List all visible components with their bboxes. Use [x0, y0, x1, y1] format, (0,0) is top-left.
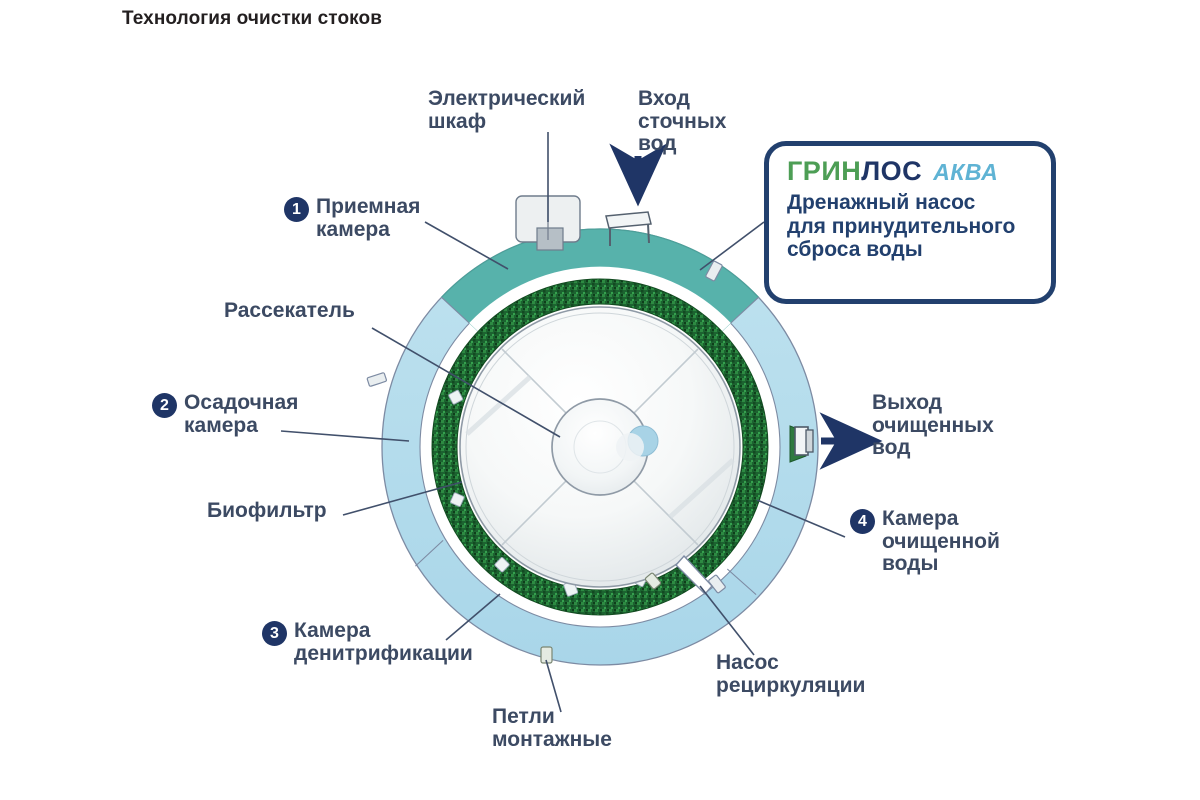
logo-brand-name: ГРИНЛОС: [787, 156, 922, 187]
numbered-label-1-text: Приемная камера: [316, 196, 420, 241]
label-recirculation-pump: Насос рециркуляции: [716, 652, 865, 697]
logo-brand-part3: АКВА: [933, 159, 998, 186]
numbered-label-2-text: Осадочная камера: [184, 392, 298, 437]
label-mounting-loops: Петли монтажные: [492, 706, 612, 751]
numbered-label-3-text: Камера денитрификации: [294, 620, 473, 665]
badge-number-3: 3: [262, 621, 287, 646]
numbered-label-4-text: Камера очищенной воды: [882, 508, 1000, 576]
product-logo-box: ГРИНЛОС АКВА Дренажный насос для принуди…: [764, 141, 1056, 304]
logo-brand-part2: ЛОС: [861, 156, 922, 186]
label-waste-inlet: Вход сточных вод: [638, 88, 726, 156]
label-biofilter: Биофильтр: [207, 500, 327, 523]
label-clean-outlet: Выход очищенных вод: [872, 392, 994, 460]
numbered-label-3: 3 Камера денитрификации: [262, 620, 473, 665]
label-distributor: Рассекатель: [224, 300, 355, 323]
logo-description: Дренажный насос для принудительного сбро…: [787, 191, 1037, 262]
numbered-label-4: 4 Камера очищенной воды: [850, 508, 1000, 576]
badge-number-1: 1: [284, 197, 309, 222]
badge-number-4: 4: [850, 509, 875, 534]
badge-number-2: 2: [152, 393, 177, 418]
numbered-label-1: 1 Приемная камера: [284, 196, 420, 241]
diagram-page: Технология очистки стоков: [0, 0, 1200, 800]
logo-brand-part1: ГРИН: [787, 156, 861, 186]
logo-brand-row: ГРИНЛОС АКВА: [787, 156, 1037, 187]
central-dome: [460, 307, 740, 587]
numbered-label-2: 2 Осадочная камера: [152, 392, 298, 437]
label-electrical-cabinet: Электрический шкаф: [428, 88, 585, 133]
